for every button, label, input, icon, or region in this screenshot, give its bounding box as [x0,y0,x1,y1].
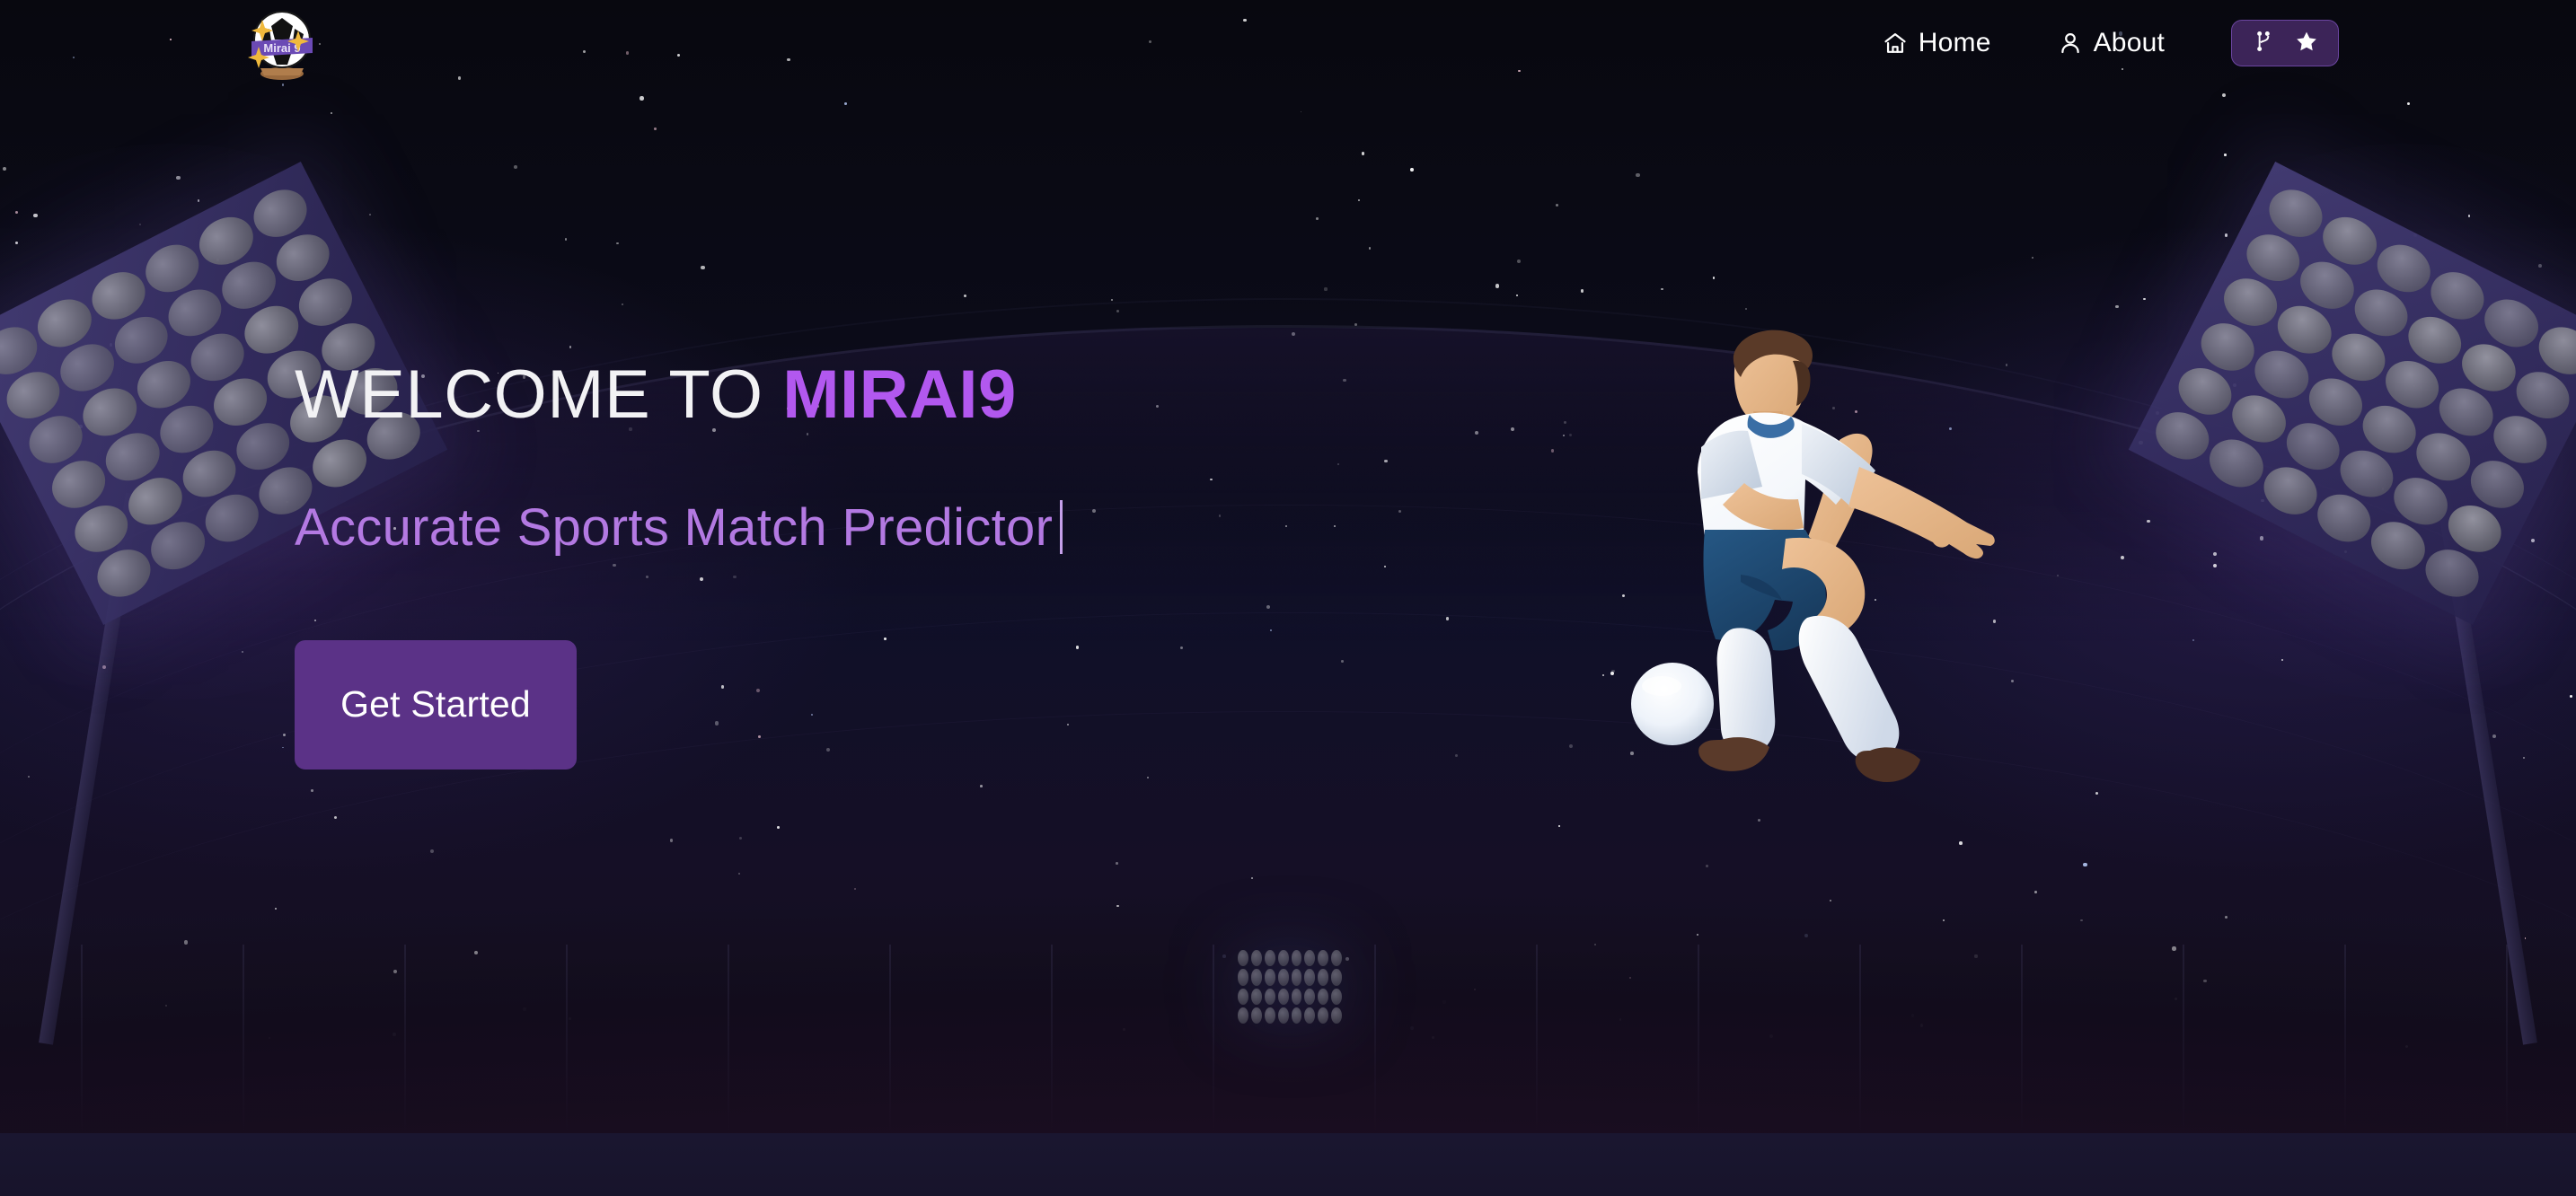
floodlight-right [2163,224,2576,611]
star [1556,204,1558,207]
floodlight-lamp [1251,969,1262,985]
floodlight-lamp [1238,950,1248,966]
star-icon [2295,30,2318,57]
floodlight-lamp [1265,989,1275,1005]
hero-subtitle: Accurate Sports Match Predictor [295,497,1063,558]
page-title: WELCOME TO MIRAI9 [295,359,1063,431]
get-started-button[interactable]: Get Started [295,640,577,769]
user-icon [2058,31,2083,56]
floodlight-lamp [1251,989,1262,1005]
stand-divider [1859,945,1861,1133]
mirai9-logo[interactable]: Mirai 9 [241,2,323,81]
stand-divider [1051,945,1053,1133]
floodlight-lamp [1251,950,1262,966]
star [331,112,332,114]
floodlight-lamp [1318,1007,1328,1024]
floodlight-lamp [1318,989,1328,1005]
star [33,214,37,217]
floodlight-lamp [1331,969,1342,985]
star [2224,154,2226,155]
home-icon [1883,31,1908,56]
star [654,128,657,130]
star [1358,199,1360,201]
nav-item-about-label: About [2094,28,2165,58]
floodlight-lamp [1292,989,1302,1005]
floodlight-lamp [1331,950,1342,966]
floodlight-lamp [1251,1007,1262,1024]
floodlight-lamp [1292,950,1302,966]
stand-divider [1213,945,1214,1133]
floodlight-lamp [1265,969,1275,985]
floodlight-lamp [1331,989,1342,1005]
star [569,346,571,347]
star [1495,284,1499,287]
stand-divider [243,945,244,1133]
floodlight-lamp [1304,1007,1315,1024]
hero-section: WELCOME TO MIRAI9 Accurate Sports Match … [295,359,1063,769]
floodlight-lamp [1331,1007,1342,1024]
floodlight-lamp [1278,969,1289,985]
stand-divider [2021,945,2023,1133]
star [1636,173,1639,177]
floodlight-lamp [1292,1007,1302,1024]
floodlight-lamp [1304,989,1315,1005]
star [1745,308,1747,310]
floodlight-lamp [1278,1007,1289,1024]
star [1661,288,1663,290]
stand-divider [81,945,83,1133]
floodlight-right-panel [2129,162,2576,625]
stand-divider [1698,945,1699,1133]
star [1410,168,1414,171]
floodlight-center-far [1238,950,1342,1024]
stand-divider [404,945,406,1133]
soccer-player-illustration [1590,314,2057,898]
stand-divider [1536,945,1538,1133]
floodlight-lamp [1238,1007,1248,1024]
stand-divider [728,945,729,1133]
star [1516,295,1518,296]
stand-divider [889,945,891,1133]
top-navigation-bar: Mirai 9 Home [0,0,2576,86]
git-fork-icon [2252,30,2275,57]
hero-title-prefix: WELCOME TO [295,356,782,433]
floodlight-lamp [1278,950,1289,966]
floodlight-lamp [1292,969,1302,985]
star [2222,93,2226,97]
star [640,96,643,100]
star [514,165,517,169]
star [2407,102,2410,105]
stand-divider [1374,945,1376,1133]
star [565,238,567,240]
stand-divider [2344,945,2346,1133]
stand-divider [566,945,568,1133]
stand-divider [2506,945,2508,1133]
floodlight-lamp [1265,1007,1275,1024]
nav-item-home[interactable]: Home [1883,28,1991,58]
floodlight-lamp [1238,969,1248,985]
floodlight-lamp [1318,969,1328,985]
nav-item-home-label: Home [1919,28,1991,58]
hero-subtitle-text: Accurate Sports Match Predictor [295,497,1053,558]
nav-links-group: Home About [1883,0,2339,86]
star [176,176,180,180]
star [15,211,18,214]
star [844,102,847,105]
nav-item-about[interactable]: About [2058,28,2165,58]
star [1324,287,1327,290]
star [2115,305,2119,309]
stand-divider [2183,945,2184,1133]
star [616,242,618,244]
floodlight-lamp [1278,989,1289,1005]
floodlight-lamp [1265,950,1275,966]
star [1316,217,1319,220]
floodlight-lamp [1238,989,1248,1005]
floodlight-lamp [1304,969,1315,985]
github-repo-badge[interactable] [2231,20,2339,66]
floodlight-lamp [1318,950,1328,966]
floodlight-lamp [1304,950,1315,966]
hero-title-brand: MIRAI9 [782,356,1017,433]
typing-caret [1060,500,1063,554]
bottom-band [0,1133,2576,1196]
